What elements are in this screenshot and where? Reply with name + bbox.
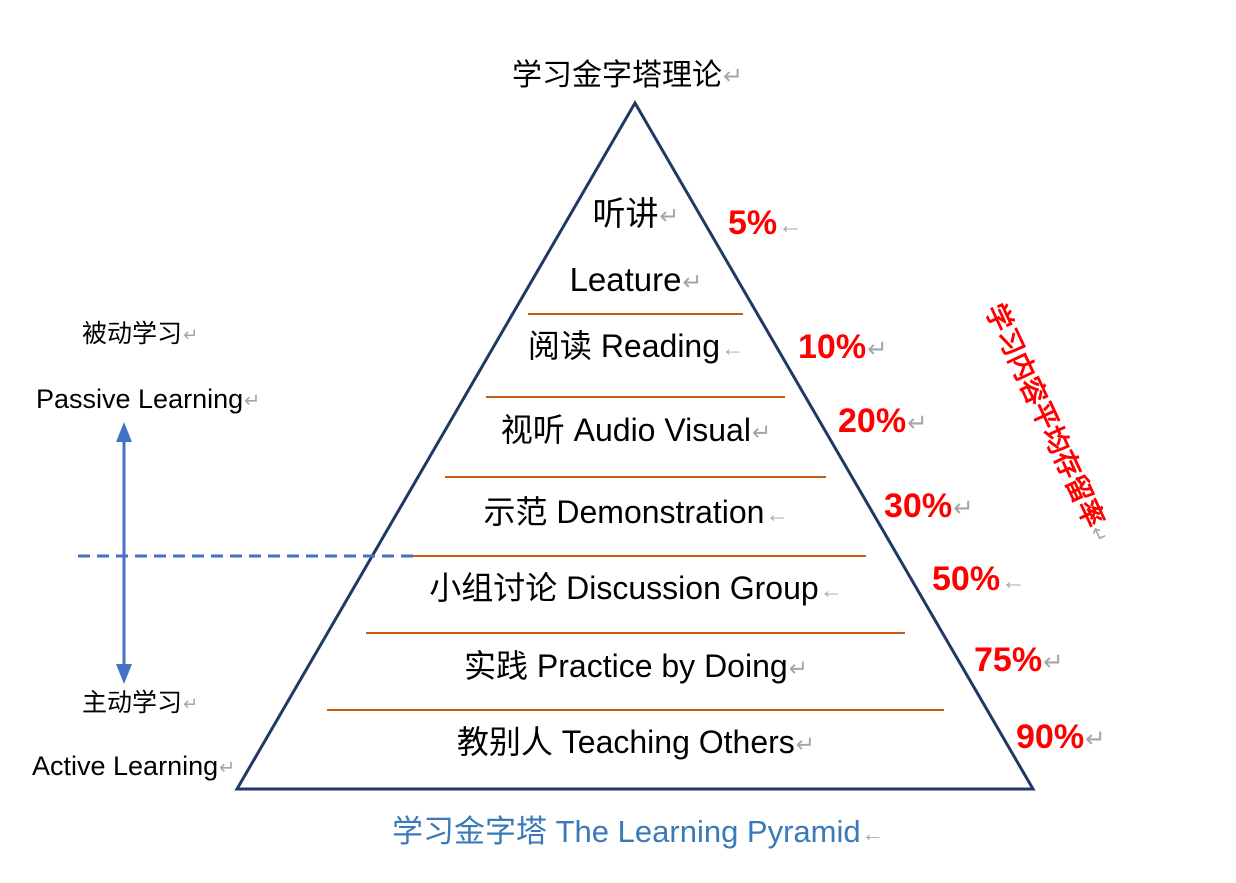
tier-label-reading: 阅读 Reading← xyxy=(528,330,744,362)
return-mark-icon: ↵ xyxy=(683,269,703,296)
diagram-caption: 学习金字塔 The Learning Pyramid← xyxy=(392,816,884,847)
passive-learning-text-cn: 被动学习 xyxy=(82,320,182,348)
tier-label-discussion-group: 小组讨论 Discussion Group← xyxy=(429,572,842,604)
tier-label-practice-by-doing: 实践 Practice by Doing↵ xyxy=(464,650,808,682)
retention-value-audio-visual: 20%↵ xyxy=(838,404,928,438)
retention-value-teaching-others: 90%↵ xyxy=(1016,720,1106,754)
return-arrow-icon: ← xyxy=(765,501,788,527)
percent-text: 10% xyxy=(798,328,866,366)
tier-label-teaching-others: 教别人 Teaching Others↵ xyxy=(457,726,815,758)
return-mark-icon: ↵ xyxy=(752,419,771,445)
return-mark-icon: ↵ xyxy=(183,694,198,714)
return-mark-icon: ↵ xyxy=(183,325,198,345)
percent-text: 75% xyxy=(974,641,1042,679)
percent-text: 30% xyxy=(884,487,952,525)
tier-text: 实践 Practice by Doing xyxy=(464,648,788,684)
return-arrow-icon: ← xyxy=(1001,568,1025,595)
percent-text: 90% xyxy=(1016,718,1084,756)
return-arrow-icon: ← xyxy=(778,212,802,239)
retention-value-discussion-group: 50%← xyxy=(932,562,1026,596)
active-learning-label-cn: 主动学习↵ xyxy=(82,691,198,716)
return-mark-icon: ↵ xyxy=(907,410,928,437)
return-mark-icon: ↵ xyxy=(660,203,680,230)
return-arrow-icon: ← xyxy=(862,821,884,846)
passive-active-double-arrow xyxy=(116,422,132,684)
return-arrow-icon: ← xyxy=(721,335,744,361)
return-mark-icon: ↵ xyxy=(796,731,815,757)
tier-text: 小组讨论 Discussion Group xyxy=(429,570,818,606)
passive-learning-label-cn: 被动学习↵ xyxy=(82,322,198,347)
diagram-caption-cn: 学习金字塔 xyxy=(392,814,547,849)
return-mark-icon: ↵ xyxy=(867,336,888,363)
tier-text: 阅读 Reading xyxy=(528,328,720,364)
return-mark-icon: ↵ xyxy=(953,495,974,522)
retention-value-reading: 10%↵ xyxy=(798,330,888,364)
active-learning-label-en: Active Learning↵ xyxy=(32,753,235,780)
tier-text: Leature xyxy=(570,261,682,298)
retention-value-demonstration: 30%↵ xyxy=(884,489,974,523)
learning-pyramid-diagram: 学习金字塔理论↵ 听讲↵ Leature↵ 阅读 Reading← 视听 Aud… xyxy=(0,0,1236,883)
diagram-caption-en: The Learning Pyramid xyxy=(556,814,861,849)
active-learning-text-en: Active Learning xyxy=(32,751,218,781)
tier-label-audio-visual: 视听 Audio Visual↵ xyxy=(501,414,772,446)
retention-value-practice-by-doing: 75%↵ xyxy=(974,643,1064,677)
tier-text: 示范 Demonstration xyxy=(483,494,764,530)
percent-text: 50% xyxy=(932,560,1000,598)
tier-text: 视听 Audio Visual xyxy=(501,412,751,448)
percent-text: 20% xyxy=(838,402,906,440)
return-mark-icon: ↵ xyxy=(244,390,260,412)
passive-learning-label-en: Passive Learning↵ xyxy=(36,386,260,413)
tier-label-lecture-cn: 听讲↵ xyxy=(593,197,680,230)
percent-text: 5% xyxy=(728,204,777,242)
passive-learning-text-en: Passive Learning xyxy=(36,384,243,414)
return-arrow-icon: ← xyxy=(820,577,843,603)
return-mark-icon: ↵ xyxy=(789,655,808,681)
retention-value-lecture: 5%← xyxy=(728,206,803,240)
tier-text: 教别人 Teaching Others xyxy=(457,724,795,760)
tier-label-lecture-en: Leature↵ xyxy=(570,263,703,296)
tier-text: 听讲 xyxy=(593,195,659,232)
return-mark-icon: ↵ xyxy=(1043,649,1064,676)
return-mark-icon: ↵ xyxy=(219,757,235,779)
tier-label-demonstration: 示范 Demonstration← xyxy=(483,496,788,528)
active-learning-text-cn: 主动学习 xyxy=(82,689,182,717)
return-mark-icon: ↵ xyxy=(1085,726,1106,753)
